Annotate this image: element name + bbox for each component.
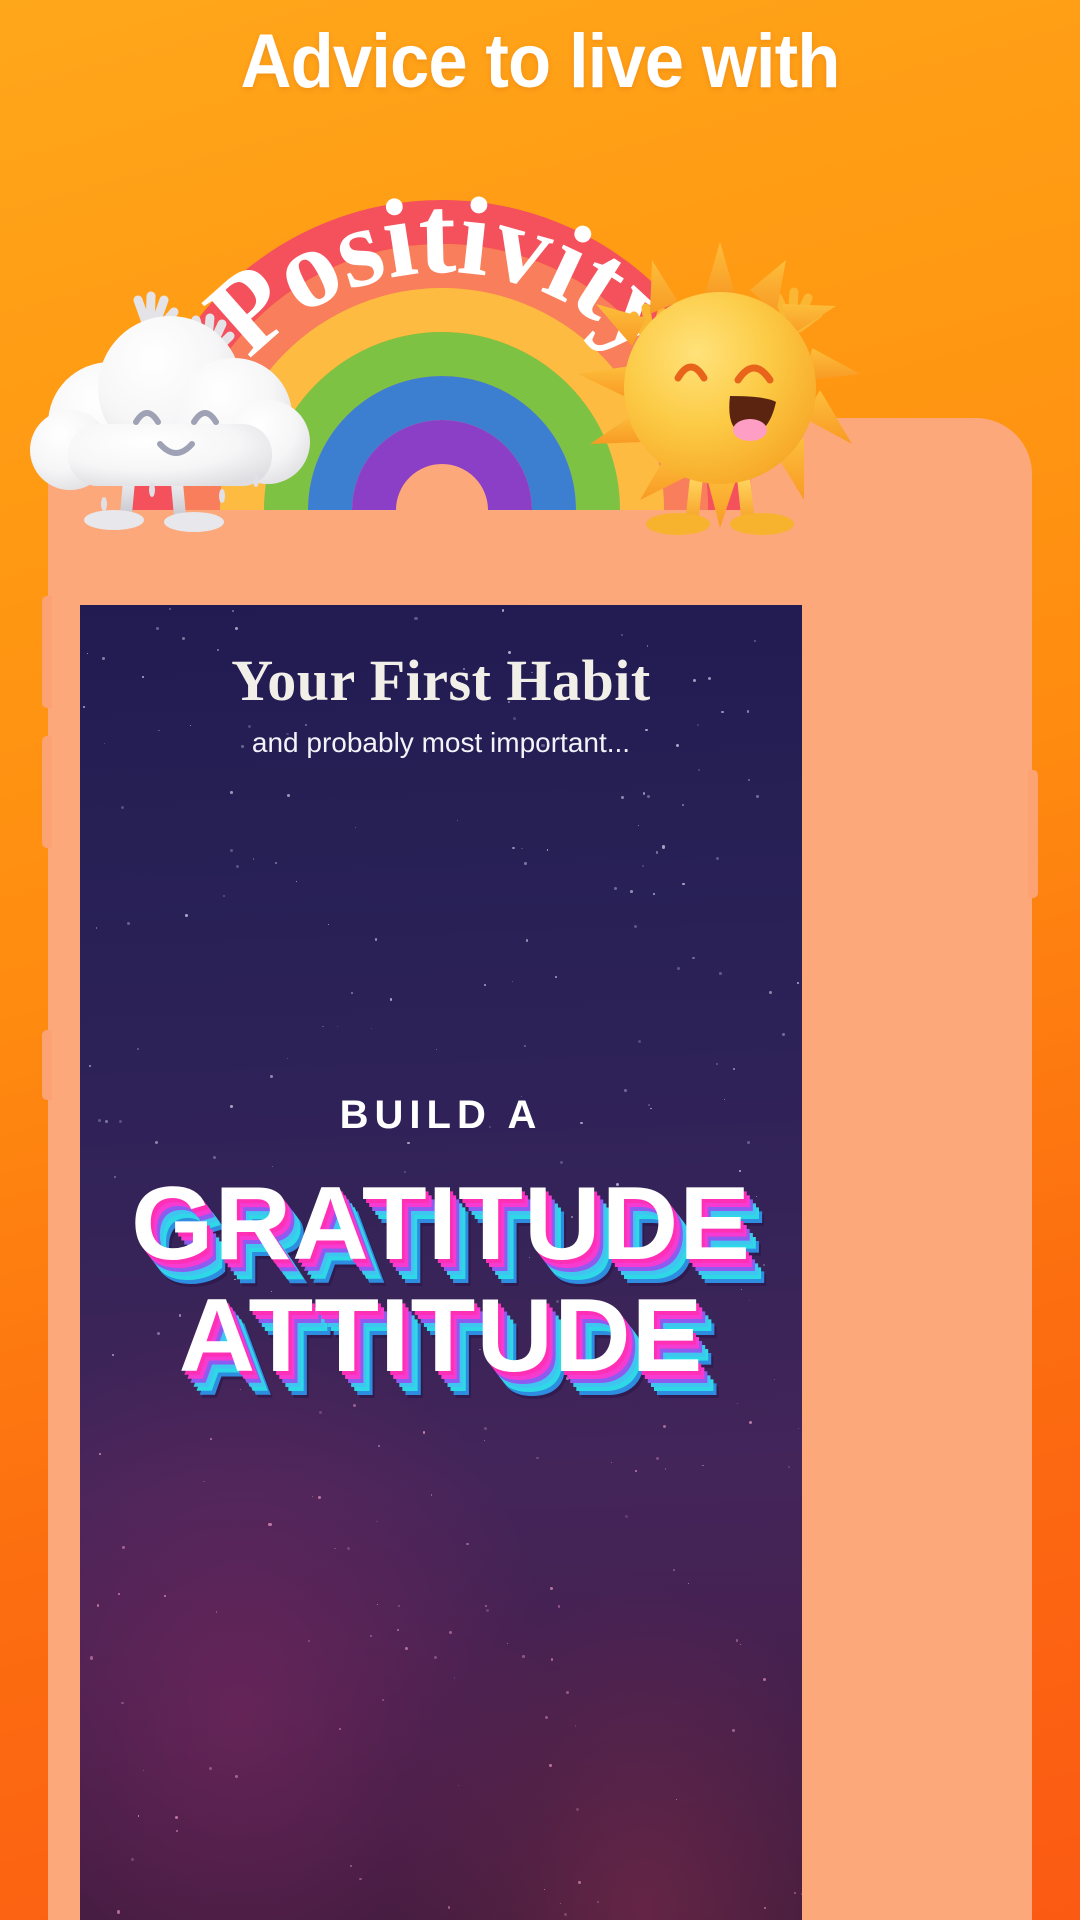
screen-kicker: BUILD A — [80, 1093, 802, 1138]
poster-canvas: Advice to live with — [0, 0, 1080, 1920]
volume-up-button[interactable] — [42, 596, 52, 708]
sun-left-foot-icon — [646, 513, 710, 535]
cloud-body-icon — [30, 316, 310, 490]
power-button[interactable] — [1028, 770, 1038, 898]
sun-character — [560, 228, 880, 548]
volume-down-button[interactable] — [42, 736, 52, 848]
screen-subtitle: and probably most important... — [80, 727, 802, 759]
cloud-character — [18, 228, 328, 538]
screen-title: Your First Habit — [80, 647, 802, 714]
sun-body-icon — [624, 292, 816, 484]
phone-mockup: Your First Habit and probably most impor… — [48, 418, 1032, 1920]
page-title: Advice to live with — [38, 18, 1042, 105]
phone-screen: Your First Habit and probably most impor… — [80, 605, 802, 1920]
screen-headline-line-2: ATTITUDE — [80, 1277, 802, 1396]
mute-switch[interactable] — [42, 1030, 52, 1100]
cloud-left-foot-icon — [84, 510, 144, 530]
sun-right-foot-icon — [730, 513, 794, 535]
cloud-right-foot-icon — [164, 512, 224, 532]
screen-headline-line-1: GRATITUDE — [80, 1165, 802, 1284]
